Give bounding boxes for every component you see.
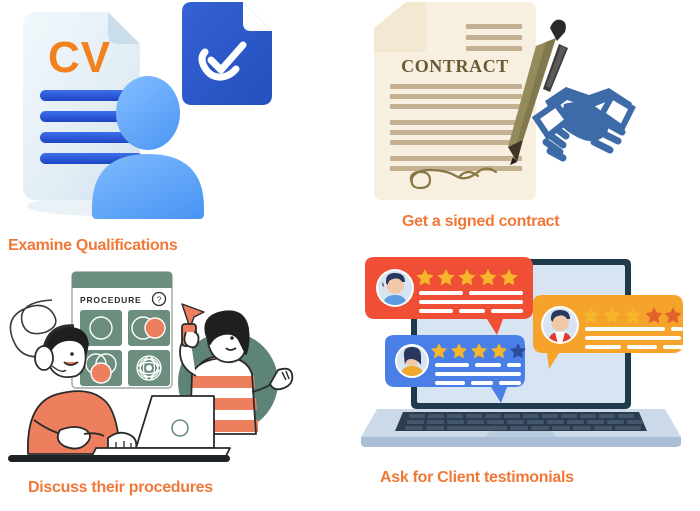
contract-fold bbox=[374, 2, 426, 52]
person-head bbox=[116, 76, 180, 150]
text-lines-blue bbox=[435, 363, 521, 385]
label-discuss-their-procedures: Discuss their procedures bbox=[28, 480, 213, 496]
contract-title-text: CONTRACT bbox=[401, 56, 509, 76]
label-ask-for-client-testimonials: Ask for Client testimonials bbox=[380, 470, 574, 486]
cv-resume-illustration: CV bbox=[0, 0, 300, 230]
steps-infographic: CV bbox=[0, 0, 700, 511]
step-discuss-their-procedures: PROCEDURE ? bbox=[0, 262, 350, 511]
step-examine-qualifications: CV bbox=[0, 0, 340, 275]
svg-text:?: ? bbox=[157, 296, 162, 305]
client-testimonials-illustration bbox=[355, 255, 685, 470]
avatar-red bbox=[376, 269, 414, 307]
laptop-base bbox=[361, 409, 681, 447]
laptop-trackpad bbox=[485, 431, 557, 437]
desk-surface bbox=[8, 455, 230, 462]
avatar-blue bbox=[395, 344, 429, 378]
cv-paper-fold bbox=[108, 12, 140, 44]
signed-contract-illustration: CONTRACT bbox=[360, 0, 640, 210]
label-examine-qualifications: Examine Qualifications bbox=[8, 238, 177, 254]
label-get-a-signed-contract: Get a signed contract bbox=[402, 214, 559, 230]
avatar-orange bbox=[541, 306, 579, 344]
cv-title-text: CV bbox=[48, 33, 111, 82]
contract-header-lines bbox=[466, 24, 522, 51]
approved-document bbox=[182, 2, 272, 105]
procedure-discussion-illustration: PROCEDURE ? bbox=[0, 262, 320, 472]
text-lines-red bbox=[419, 291, 523, 313]
procedure-board-title: PROCEDURE bbox=[80, 295, 142, 305]
handshake-icon bbox=[536, 87, 632, 158]
keyboard-keys bbox=[405, 414, 643, 430]
procedure-board: PROCEDURE ? bbox=[72, 272, 172, 388]
